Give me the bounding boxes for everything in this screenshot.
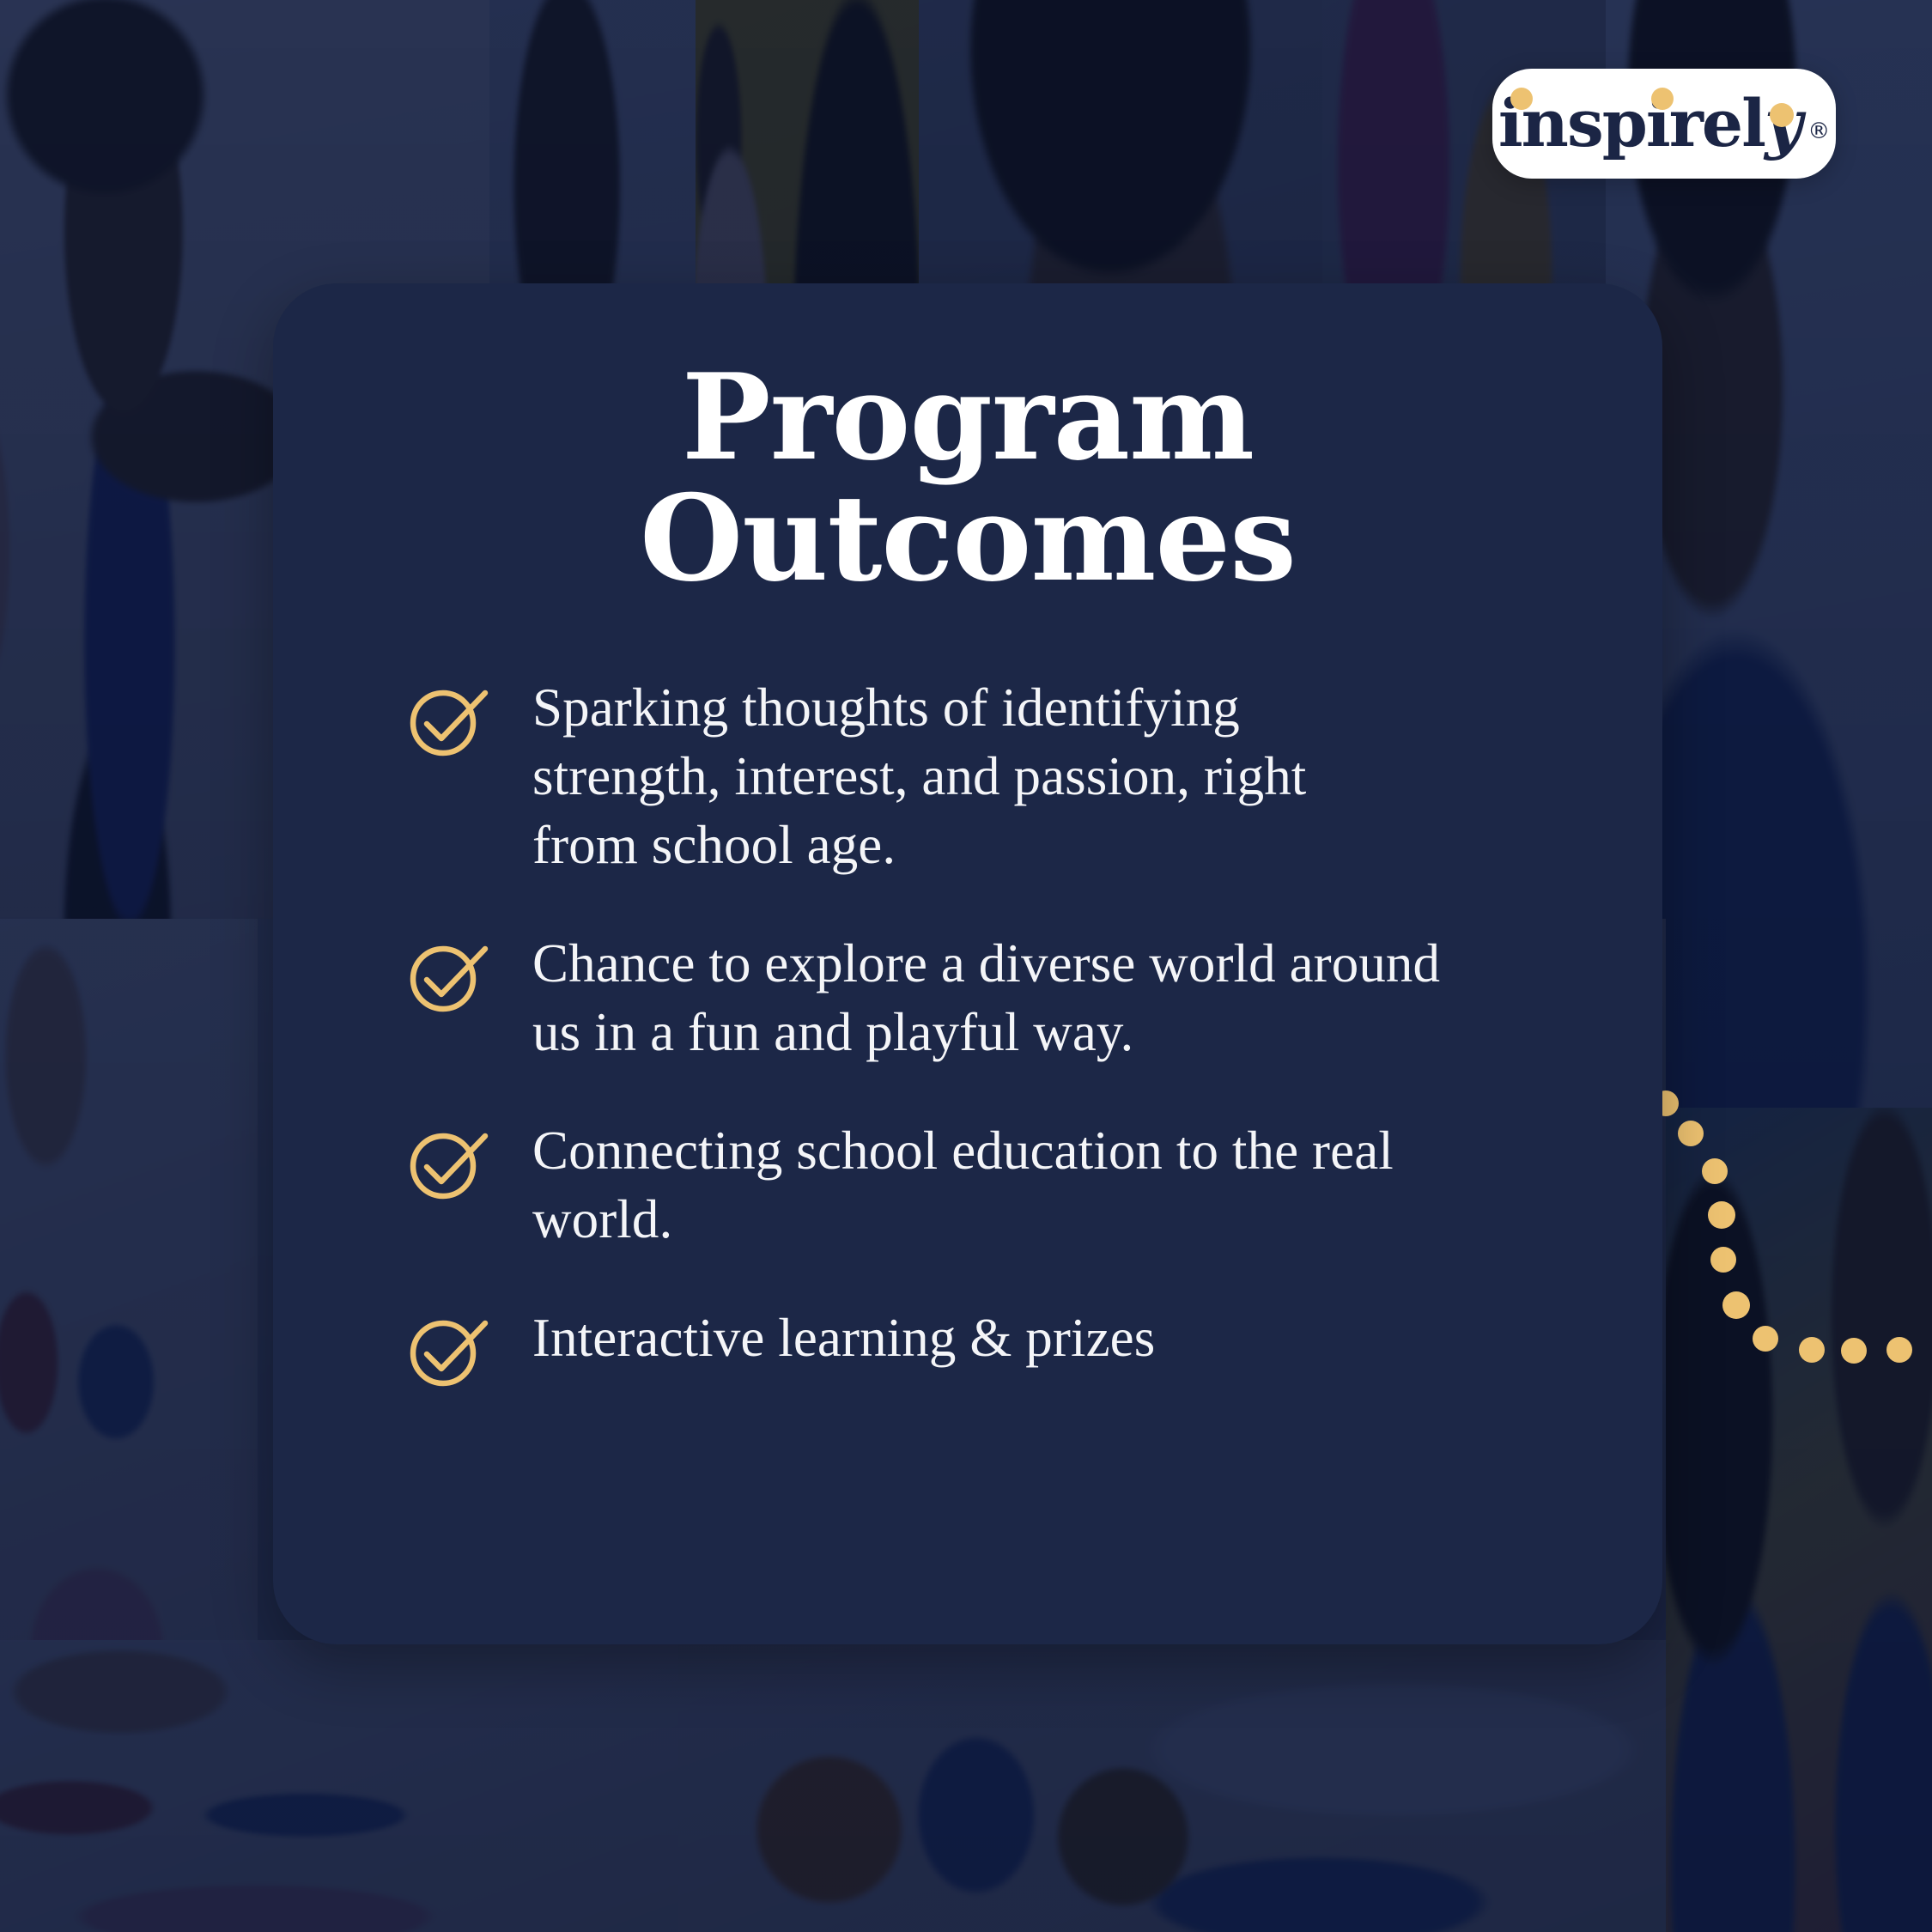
list-item: Chance to explore a diverse world around… <box>405 929 1559 1066</box>
list-item-label: Sparking thoughts of identifying strengt… <box>532 673 1400 879</box>
logo-wordmark: inspirely <box>1498 91 1804 156</box>
list-item-label: Interactive learning & prizes <box>532 1303 1494 1372</box>
registered-trademark-icon: ® <box>1807 118 1830 144</box>
logo-text-main: inspirel <box>1498 85 1765 161</box>
check-circle-icon <box>405 934 495 1017</box>
inspirely-logo[interactable]: inspirely ® <box>1492 69 1836 179</box>
list-item: Connecting school education to the real … <box>405 1116 1559 1254</box>
poster-canvas: Program Outcomes Sparking thoughts of id… <box>0 0 1932 1932</box>
page-title: Program Outcomes <box>273 357 1662 599</box>
logo-dot-icon <box>1651 88 1674 110</box>
check-circle-icon <box>405 678 495 761</box>
outcomes-list: Sparking thoughts of identifying strengt… <box>273 673 1662 1391</box>
list-item: Sparking thoughts of identifying strengt… <box>405 673 1559 879</box>
logo-dot-icon <box>1510 88 1533 110</box>
check-circle-icon <box>405 1121 495 1204</box>
list-item: Interactive learning & prizes <box>405 1303 1559 1391</box>
logo-dot-icon <box>1770 103 1794 127</box>
program-outcomes-card: Program Outcomes Sparking thoughts of id… <box>273 283 1662 1644</box>
list-item-label: Connecting school education to the real … <box>532 1116 1494 1254</box>
check-circle-icon <box>405 1309 495 1391</box>
page-title-line-2: Outcomes <box>376 478 1559 599</box>
page-title-line-1: Program <box>682 347 1254 487</box>
list-item-label: Chance to explore a diverse world around… <box>532 929 1494 1066</box>
